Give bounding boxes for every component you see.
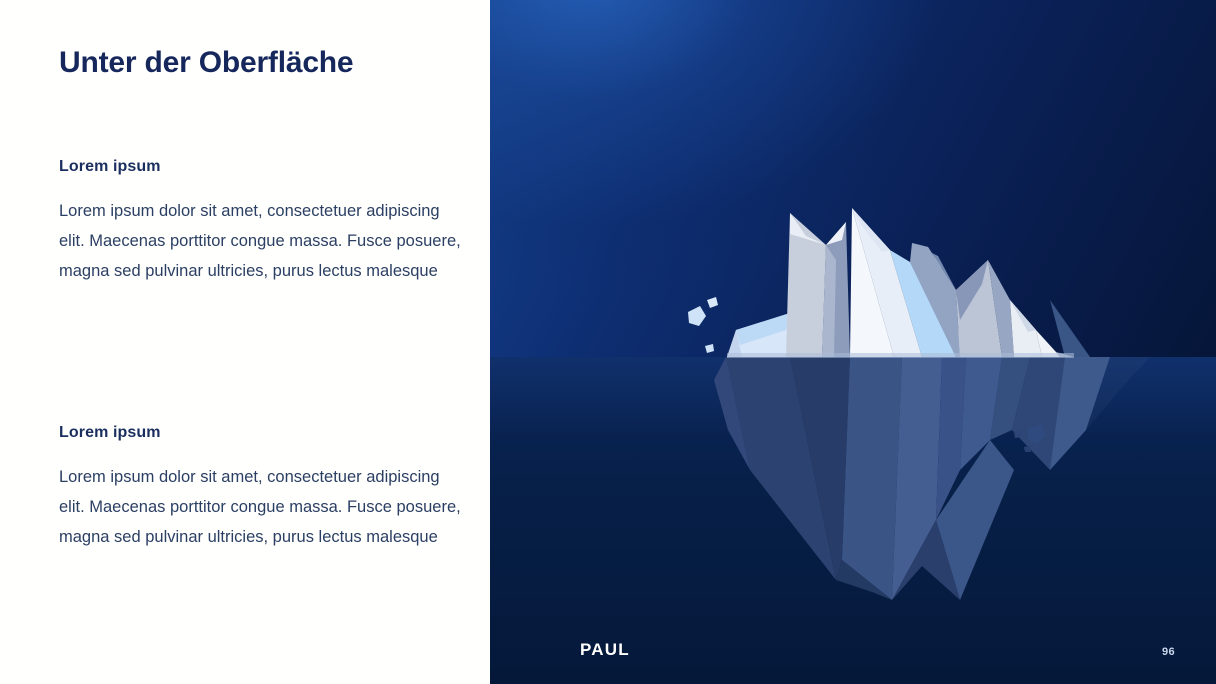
page-title: Unter der Oberfläche — [59, 46, 353, 80]
content-block-2: Lorem ipsum Lorem ipsum dolor sit amet, … — [59, 424, 469, 552]
image-panel: PAUL 96 — [490, 0, 1216, 684]
block-body-1: Lorem ipsum dolor sit amet, consectetuer… — [59, 196, 464, 286]
ice-chunk-small-bottom — [705, 344, 714, 353]
iceberg-illustration — [490, 0, 1216, 684]
block-body-2: Lorem ipsum dolor sit amet, consectetuer… — [59, 462, 464, 552]
brand-logo: PAUL — [580, 640, 630, 660]
block-heading-1: Lorem ipsum — [59, 158, 469, 176]
ice-chunk-large — [688, 306, 706, 326]
page-number: 96 — [1162, 646, 1175, 658]
text-panel: Unter der Oberfläche Lorem ipsum Lorem i… — [0, 0, 490, 684]
slide: Unter der Oberfläche Lorem ipsum Lorem i… — [0, 0, 1216, 684]
block-heading-2: Lorem ipsum — [59, 424, 469, 442]
ice-chunk-small-top — [707, 297, 718, 308]
ice-chunk-right-tiny — [1024, 446, 1031, 452]
content-block-1: Lorem ipsum Lorem ipsum dolor sit amet, … — [59, 158, 469, 286]
